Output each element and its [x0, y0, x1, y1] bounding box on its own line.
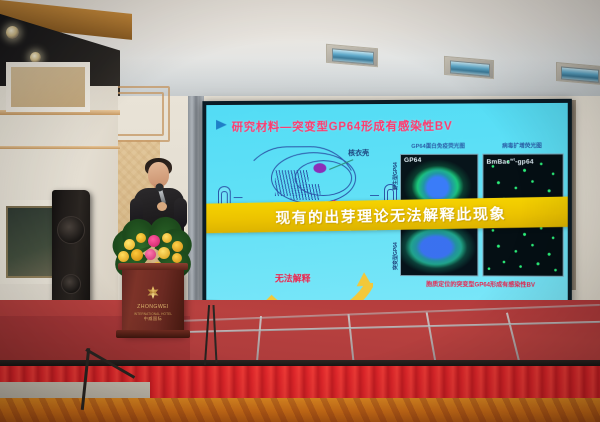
podium-base: [116, 330, 190, 338]
grid-row-label-1: 野生型GP64: [392, 162, 399, 190]
flower-bloom: [131, 249, 143, 261]
grid-column-header-1: GP64蛋白免疫荧光图: [400, 142, 476, 150]
podium-brand-line1: ZHONGWEI: [122, 304, 184, 312]
slide-title: 研究材料—突变型GP64形成有感染性BV: [232, 117, 560, 135]
ceiling-vent-light: [556, 62, 600, 85]
flower-bloom: [172, 253, 182, 263]
flower-bloom: [148, 235, 160, 247]
diagram-dash: —: [234, 192, 243, 202]
flower-bloom: [162, 233, 172, 243]
grid-column-header-2: 病毒扩增荧光图: [482, 141, 561, 149]
hotel-emblem-icon: [147, 286, 160, 299]
pa-speaker-cabinet: [52, 190, 90, 312]
upper-wall-niche: [6, 62, 90, 112]
slide-highlight-banner: 现有的出芽理论无法解释此现象: [206, 196, 567, 233]
title-chevron-icon: [216, 120, 227, 130]
podium: ZHONGWEI INTERNATIONAL HOTEL 中威国际: [122, 268, 184, 334]
flower-bloom: [118, 251, 129, 262]
projection-screen: 研究材料—突变型GP64形成有感染性BV — — BV 核衣壳: [202, 99, 571, 306]
grid-caption: 胞质定位的突变型GP64形成有感染性BV: [400, 279, 562, 289]
podium-top-edge: [118, 263, 188, 270]
floor-carpet: [0, 398, 600, 422]
podium-brand-line3: 中威国际: [122, 316, 184, 322]
banner-text: 现有的出芽理论无法解释此现象: [275, 202, 506, 227]
grid-row-label-2: 突变型GP64: [392, 242, 399, 270]
presentation-photo-scene: 研究材料—突变型GP64形成有感染性BV — — BV 核衣壳: [0, 0, 600, 422]
flower-bloom: [172, 241, 183, 252]
flower-bloom: [124, 239, 135, 250]
flower-bloom: [158, 247, 170, 259]
micrograph-label: GP64: [404, 157, 421, 164]
spotlight: [6, 26, 19, 39]
cannot-explain-label: 无法解释: [275, 272, 311, 285]
nucleocapsid-label: 核衣壳: [348, 148, 369, 158]
flower-bloom: [145, 249, 156, 260]
presenter-hand: [157, 202, 167, 211]
slide-surface: 研究材料—突变型GP64形成有感染性BV — — BV 核衣壳: [206, 103, 567, 302]
podium-branding: ZHONGWEI INTERNATIONAL HOTEL 中威国际: [122, 304, 184, 322]
nucleus-body: [313, 163, 326, 173]
left-wall-trim: [0, 146, 120, 149]
micrograph-label: BmBacwt-gp64: [486, 157, 533, 166]
flower-bloom: [136, 233, 146, 243]
